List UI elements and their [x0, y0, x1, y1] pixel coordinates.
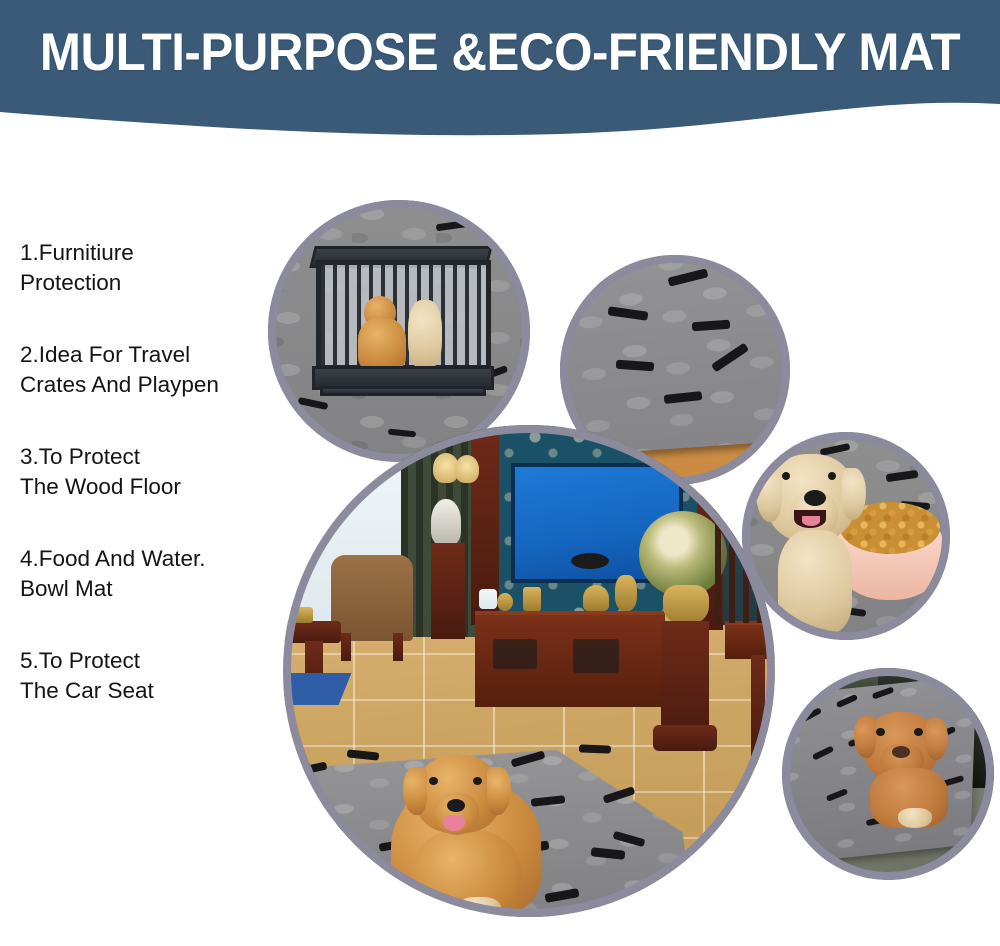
armchair [331, 555, 413, 641]
dog-eye [782, 472, 790, 480]
dog-eye [429, 777, 438, 785]
dog-nose [447, 799, 465, 812]
crate-dog-body [358, 318, 406, 372]
coffee-table [283, 621, 341, 643]
car-seat-photo [782, 668, 994, 880]
dog-body [778, 530, 852, 634]
dog-crate-photo [268, 200, 530, 462]
food-bowl-photo [742, 432, 950, 640]
pillar [661, 621, 709, 741]
urn [663, 585, 709, 625]
crate-dog-second [408, 300, 442, 370]
dog-nose [804, 490, 826, 506]
tv-reflection [571, 553, 609, 569]
dog-ear [756, 466, 782, 522]
puppy-paw [898, 808, 932, 828]
ornament [583, 585, 609, 611]
puppy-ear [854, 716, 876, 758]
console-drawer [573, 639, 619, 673]
ornament [615, 575, 637, 611]
chair-legs [341, 633, 351, 661]
clock [479, 589, 497, 609]
photo-collage [0, 0, 1000, 946]
lamp [455, 455, 479, 483]
bone-icon [579, 744, 611, 753]
puppy-eye [914, 728, 923, 736]
dog-tongue [802, 516, 820, 526]
dog-paw [457, 897, 501, 917]
dog-ear [403, 767, 427, 815]
dog-eye [828, 472, 836, 480]
side-table-leg [751, 655, 765, 765]
ornament [523, 587, 541, 611]
table-ornament [293, 607, 313, 623]
ornament [497, 593, 513, 611]
puppy-nose [892, 746, 910, 758]
dog-tongue [443, 815, 465, 831]
statue [431, 499, 461, 545]
living-room-photo [283, 425, 775, 917]
console-drawer [493, 639, 537, 669]
dog-eye [473, 777, 482, 785]
dog-paw [409, 893, 453, 917]
puppy-eye [876, 728, 885, 736]
chair-legs [393, 633, 403, 661]
pillar-base [653, 725, 717, 751]
crate-feet [320, 386, 486, 396]
pedestal [431, 543, 465, 639]
